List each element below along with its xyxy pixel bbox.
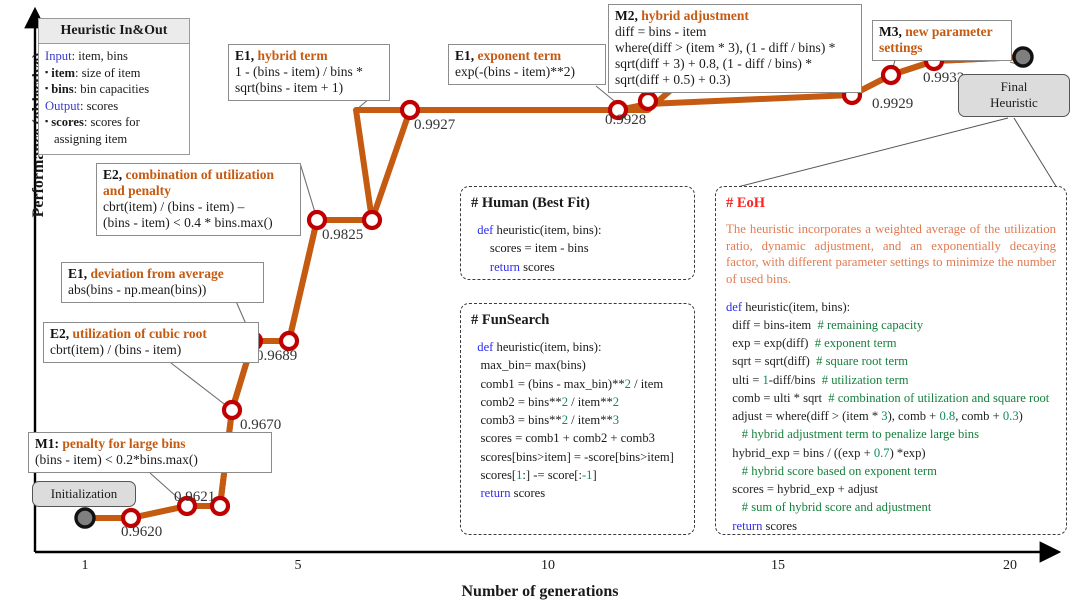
marker-node	[364, 212, 380, 228]
annotation-e1-exponent-title: exponent term	[478, 48, 562, 63]
code-panel-human-caption: # Human (Best Fit)	[471, 195, 684, 212]
annotation-e1-deviation-header: E1, deviation from average	[68, 266, 257, 282]
final-heuristic-connectors	[718, 118, 1062, 196]
marker-node	[309, 212, 325, 228]
code-panel-funsearch-caption: # FunSearch	[471, 312, 684, 329]
input-item-1-desc: : bin capacities	[74, 82, 150, 96]
input-item-0: item: size of item	[45, 65, 184, 82]
code-panel-eoh: # EoH The heuristic incorporates a weigh…	[715, 186, 1067, 535]
annotation-e1-exponent-tag: E1,	[455, 48, 474, 63]
annotation-e1-hybrid-header: E1, hybrid term	[235, 48, 383, 64]
marker-node	[640, 93, 656, 109]
pill-final-heuristic: Final Heuristic	[958, 74, 1070, 117]
annotation-e1-hybrid: E1, hybrid term 1 - (bins - item) / bins…	[228, 44, 390, 101]
data-label-6: 0.9928	[605, 112, 646, 129]
heuristic-io-output-row: Output: scores	[45, 98, 184, 115]
annotation-e1-deviation: E1, deviation from average abs(bins - np…	[61, 262, 264, 303]
annotation-e2-cubic-body: cbrt(item) / (bins - item)	[50, 342, 252, 358]
annotation-e2-combination: E2, combination of utilization and penal…	[96, 163, 301, 236]
annotation-e2-combination-body: cbrt(item) / (bins - item) – (bins - ite…	[103, 199, 294, 231]
annotation-m3-params: M3, new parameter settings	[872, 20, 1012, 61]
output-value: : scores	[80, 99, 118, 113]
annotation-m1-tag: M1:	[35, 436, 59, 451]
annotation-e1-deviation-title: deviation from average	[91, 266, 224, 281]
figure-root: Performance (objective) Number of genera…	[0, 0, 1080, 613]
annotation-e1-deviation-body: abs(bins - np.mean(bins))	[68, 282, 257, 298]
input-item-0-desc: : size of item	[75, 66, 140, 80]
annotation-e2-cubic-header: E2, utilization of cubic root	[50, 326, 252, 342]
data-label-5: 0.9927	[414, 117, 455, 134]
annotation-m1-body: (bins - item) < 0.2*bins.max()	[35, 452, 265, 468]
annotation-m3-params-header: M3, new parameter settings	[879, 24, 1005, 56]
annotation-e1-exponent-body: exp(-(bins - item)**2)	[455, 64, 599, 80]
annotation-m2-hybrid-body: diff = bins - item where(diff > (item * …	[615, 24, 855, 88]
input-item-0-name: item	[51, 66, 75, 80]
annotation-m2-hybrid-title: hybrid adjustment	[641, 8, 749, 23]
x-tick-20: 20	[1003, 558, 1017, 574]
annotation-m1-header: M1: penalty for large bins	[35, 436, 265, 452]
output-item-0: scores: scores for assigning item	[45, 114, 184, 147]
code-panel-human: # Human (Best Fit) def heuristic(item, b…	[460, 186, 695, 280]
code-panel-human-body: def heuristic(item, bins): scores = item…	[471, 221, 684, 276]
annotation-e2-cubic: E2, utilization of cubic root cbrt(item)…	[43, 322, 259, 363]
data-label-0: 0.9620	[121, 524, 162, 541]
marker-end	[1014, 48, 1032, 66]
marker-start	[76, 509, 94, 527]
heuristic-io-body: Input: item, bins item: size of item bin…	[39, 44, 189, 154]
x-tick-5: 5	[295, 558, 302, 574]
code-panel-eoh-body: def heuristic(item, bins): diff = bins-i…	[726, 298, 1056, 535]
code-panel-eoh-description: The heuristic incorporates a weighted av…	[726, 221, 1056, 288]
marker-node	[281, 333, 297, 349]
x-tick-1: 1	[82, 558, 89, 574]
x-tick-15: 15	[771, 558, 785, 574]
annotation-m1: M1: penalty for large bins (bins - item)…	[28, 432, 272, 473]
output-item-0-name: scores	[51, 115, 84, 129]
marker-node	[224, 402, 240, 418]
annotation-m2-hybrid: M2, hybrid adjustment diff = bins - item…	[608, 4, 862, 93]
pill-initialization: Initialization	[32, 481, 136, 507]
x-tick-10: 10	[541, 558, 555, 574]
annotation-e2-combination-header: E2, combination of utilization and penal…	[103, 167, 294, 199]
heuristic-io-panel: Heuristic In&Out Input: item, bins item:…	[38, 18, 190, 155]
output-label: Output	[45, 99, 80, 113]
x-axis-label: Number of generations	[0, 583, 1080, 601]
annotation-e1-hybrid-tag: E1,	[235, 48, 254, 63]
data-label-7: 0.9929	[872, 96, 913, 113]
annotation-e1-exponent-header: E1, exponent term	[455, 48, 599, 64]
annotation-m2-hybrid-header: M2, hybrid adjustment	[615, 8, 855, 24]
input-item-1: bins: bin capacities	[45, 81, 184, 98]
data-label-4: 0.9825	[322, 227, 363, 244]
annotation-e1-deviation-tag: E1,	[68, 266, 87, 281]
heuristic-io-title: Heuristic In&Out	[39, 19, 189, 44]
code-panel-eoh-caption: # EoH	[726, 195, 1056, 212]
annotation-e2-combination-title: combination of utilization and penalty	[103, 167, 274, 198]
code-panel-funsearch: # FunSearch def heuristic(item, bins): m…	[460, 303, 695, 535]
input-label: Input	[45, 49, 72, 63]
annotation-e1-hybrid-body: 1 - (bins - item) / bins * sqrt(bins - i…	[235, 64, 383, 96]
code-panel-funsearch-body: def heuristic(item, bins): max_bin= max(…	[471, 338, 684, 502]
annotation-e2-combination-tag: E2,	[103, 167, 122, 182]
input-item-1-name: bins	[51, 82, 73, 96]
annotation-m3-params-tag: M3,	[879, 24, 902, 39]
annotation-e1-exponent: E1, exponent term exp(-(bins - item)**2)	[448, 44, 606, 85]
heuristic-io-input-row: Input: item, bins	[45, 48, 184, 65]
annotation-m1-title: penalty for large bins	[62, 436, 185, 451]
marker-node	[402, 102, 418, 118]
annotation-e2-cubic-title: utilization of cubic root	[73, 326, 207, 341]
annotation-e2-cubic-tag: E2,	[50, 326, 69, 341]
input-value: : item, bins	[72, 49, 128, 63]
annotation-e1-hybrid-title: hybrid term	[258, 48, 328, 63]
marker-node	[883, 67, 899, 83]
data-label-1: 0.9621	[174, 489, 215, 506]
annotation-m2-hybrid-tag: M2,	[615, 8, 638, 23]
data-label-3: 0.9689	[256, 348, 297, 365]
